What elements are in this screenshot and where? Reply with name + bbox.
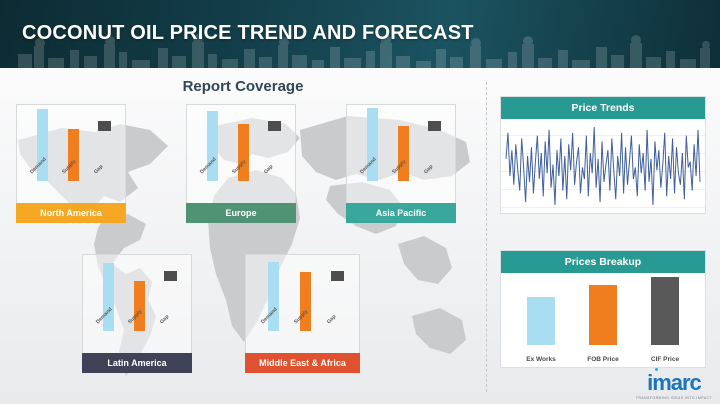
bar-gap	[98, 121, 111, 131]
bar-demand	[37, 109, 48, 181]
bar-label-gap: Gap	[263, 164, 274, 175]
region-label-asia-pacific: Asia Pacific	[346, 203, 456, 223]
bar-demand	[103, 263, 114, 331]
logo-tagline: TRANSFORMING IDEAS INTO IMPACT	[636, 396, 712, 400]
region-label-latin-america: Latin America	[82, 353, 192, 373]
bar-gap	[164, 271, 177, 281]
bar-gap	[331, 271, 344, 281]
page-header: COCONUT OIL PRICE TREND AND FORECAST	[0, 0, 720, 68]
bar-cif-price	[651, 277, 679, 345]
region-label-middle-east-africa: Middle East & Africa	[245, 353, 360, 373]
bar-label-gap: Gap	[423, 164, 434, 175]
region-chart-latin-america: Demand Supply Gap	[82, 254, 192, 354]
region-chart-middle-east-africa: Demand Supply Gap	[245, 254, 360, 354]
page-title: COCONUT OIL PRICE TREND AND FORECAST	[22, 22, 474, 45]
region-label-europe: Europe	[186, 203, 296, 223]
report-coverage-heading: Report Coverage	[0, 78, 486, 95]
bar-supply	[68, 129, 79, 181]
bar-ex-works	[527, 297, 555, 345]
region-card-north-america[interactable]: Demand Supply Gap North America	[16, 104, 126, 223]
region-card-asia-pacific[interactable]: Demand Supply Gap Asia Pacific	[346, 104, 456, 223]
price-trends-chart	[501, 119, 705, 213]
bar-gap	[428, 121, 441, 131]
panel-price-trends[interactable]: Price Trends	[500, 96, 706, 214]
region-chart-north-america: Demand Supply Gap	[16, 104, 126, 204]
imarc-logo[interactable]: imarc TRANSFORMING IDEAS INTO IMPACT	[636, 373, 712, 400]
label-fob-price: FOB Price	[577, 356, 629, 363]
bar-supply	[300, 272, 311, 331]
panel-title-prices-breakup: Prices Breakup	[501, 251, 705, 273]
bar-demand	[207, 111, 218, 181]
bar-demand	[367, 108, 378, 181]
panel-title-price-trends: Price Trends	[501, 97, 705, 119]
bar-fob-price	[589, 285, 617, 345]
bar-label-gap: Gap	[326, 314, 337, 325]
bar-demand	[268, 262, 279, 331]
bar-supply	[134, 281, 145, 331]
region-card-europe[interactable]: Demand Supply Gap Europe	[186, 104, 296, 223]
bar-label-gap: Gap	[159, 314, 170, 325]
bar-gap	[268, 121, 281, 131]
bar-label-gap: Gap	[93, 164, 104, 175]
label-ex-works: Ex Works	[515, 356, 567, 363]
section-divider	[486, 82, 487, 392]
bar-supply	[398, 126, 409, 181]
region-card-latin-america[interactable]: Demand Supply Gap Latin America	[82, 254, 192, 373]
slide-body: Report Coverage Demand Supply Gap North …	[0, 68, 720, 404]
bar-supply	[238, 124, 249, 181]
label-cif-price: CIF Price	[639, 356, 691, 363]
region-chart-europe: Demand Supply Gap	[186, 104, 296, 204]
region-card-middle-east-africa[interactable]: Demand Supply Gap Middle East & Africa	[245, 254, 360, 373]
infographic-slide: COCONUT OIL PRICE TREND AND FORECAST Rep…	[0, 0, 720, 404]
price-trend-line	[501, 119, 705, 213]
region-chart-asia-pacific: Demand Supply Gap	[346, 104, 456, 204]
logo-wordmark: imarc	[647, 373, 701, 393]
panel-prices-breakup[interactable]: Prices Breakup Ex Works FOB Price CIF Pr…	[500, 250, 706, 368]
region-label-north-america: North America	[16, 203, 126, 223]
prices-breakup-chart: Ex Works FOB Price CIF Price	[501, 273, 705, 367]
